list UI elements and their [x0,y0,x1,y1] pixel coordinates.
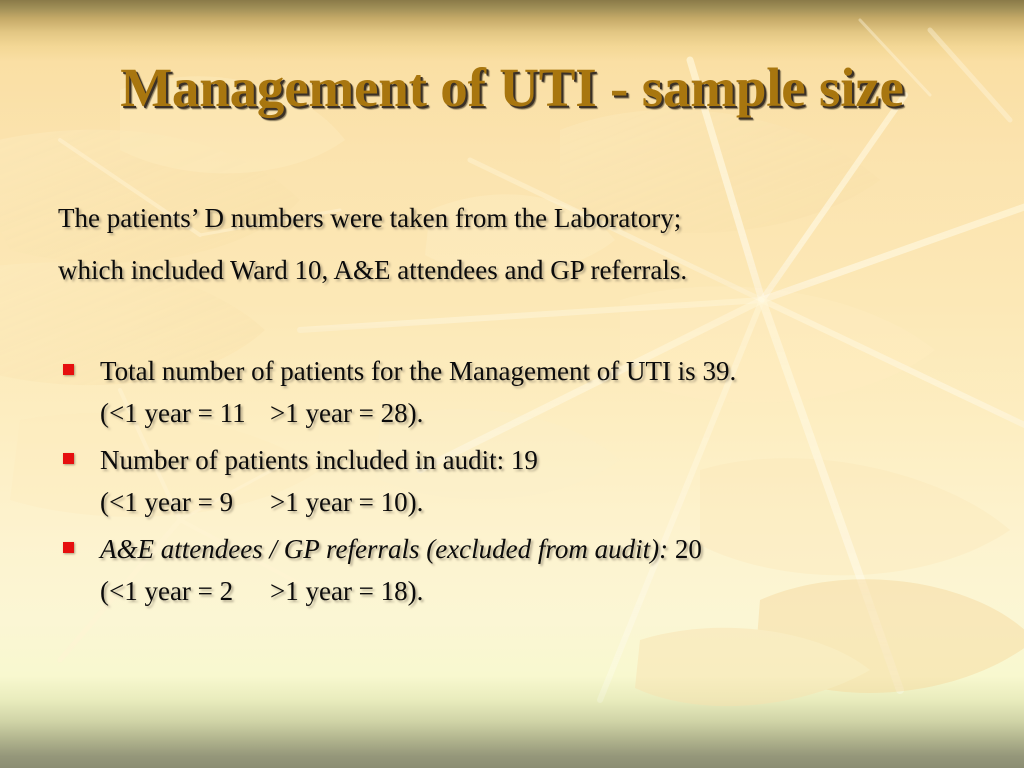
bullet-subline-1: (<1 year = 11>1 year = 28). [100,390,988,436]
bullet-text-3-italic: A&E attendees / GP referrals (excluded f… [100,534,668,564]
red-square-bullet-icon [63,453,74,464]
bullet-text-2: Number of patients included in audit: 19 [100,441,988,479]
bullet-text-1: Total number of patients for the Managem… [100,352,988,390]
slide-title: Management of UTI - sample size [120,58,904,118]
bullet-subline-2-left: (<1 year = 9 [100,479,270,525]
intro-paragraph: The patients’ D numbers were taken from … [58,192,968,296]
bullet-subline-3-right: >1 year = 18). [270,568,423,614]
list-item: A&E attendees / GP referrals (excluded f… [58,530,988,614]
intro-line-2: which included Ward 10, A&E attendees an… [58,244,968,296]
title-block: Management of UTI - sample size [0,58,1024,118]
bullet-subline-3: (<1 year = 2>1 year = 18). [100,568,988,614]
bullet-subline-2: (<1 year = 9>1 year = 10). [100,479,988,525]
bullet-text-3-value: 20 [668,534,702,564]
bullet-text-3: A&E attendees / GP referrals (excluded f… [100,530,988,568]
list-item: Total number of patients for the Managem… [58,352,988,436]
bullet-subline-2-right: >1 year = 10). [270,479,423,525]
list-item: Number of patients included in audit: 19… [58,441,988,525]
red-square-bullet-icon [63,364,74,375]
red-square-bullet-icon [63,542,74,553]
bullet-subline-1-left: (<1 year = 11 [100,390,270,436]
bullet-subline-1-right: >1 year = 28). [270,390,423,436]
slide: Management of UTI - sample size The pati… [0,0,1024,768]
bullet-subline-3-left: (<1 year = 2 [100,568,270,614]
intro-line-1: The patients’ D numbers were taken from … [58,192,968,244]
bullet-list: Total number of patients for the Managem… [58,352,988,619]
